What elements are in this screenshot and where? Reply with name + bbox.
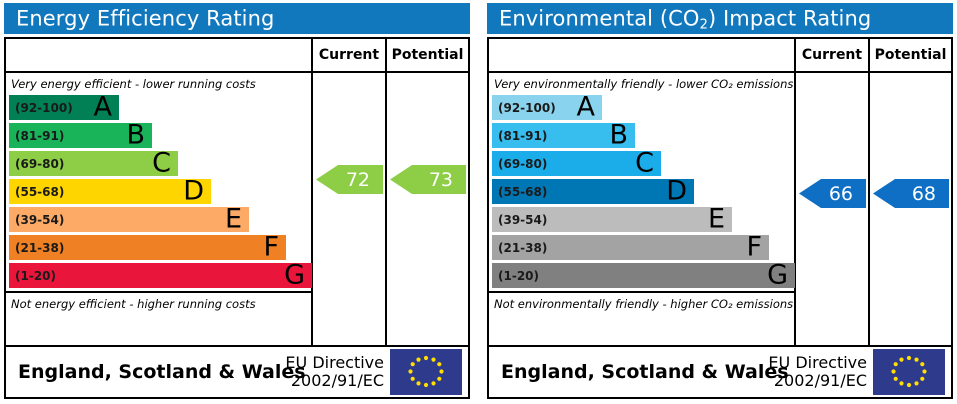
column-header-current: Current bbox=[796, 39, 868, 71]
rating-table: Current Potential Very energy efficient … bbox=[4, 37, 470, 347]
band-b-letter: B bbox=[609, 121, 628, 148]
footer-directive-line1: EU Directive bbox=[285, 354, 384, 372]
band-f-letter: F bbox=[263, 233, 279, 260]
band-c: (69-80) C bbox=[9, 151, 178, 176]
chart-title-main: Environmental (CO bbox=[499, 6, 700, 30]
band-d: (55-68) D bbox=[9, 179, 211, 204]
potential-rating-arrow: 68 bbox=[873, 179, 949, 208]
band-g: (1-20) G bbox=[492, 263, 795, 288]
caption-top: Very energy efficient - lower running co… bbox=[6, 73, 309, 95]
chart-title-suffix: ) Impact Rating bbox=[708, 6, 871, 30]
environmental-impact-rating-chart: Environmental (CO2) Impact Rating Curren… bbox=[483, 0, 957, 404]
band-a-range: (92-100) bbox=[498, 101, 556, 115]
band-f: (21-38) F bbox=[492, 235, 769, 260]
band-c-range: (69-80) bbox=[15, 157, 64, 171]
band-c: (69-80) C bbox=[492, 151, 661, 176]
band-c-range: (69-80) bbox=[498, 157, 547, 171]
column-header-current: Current bbox=[313, 39, 385, 71]
caption-bottom: Not energy efficient - higher running co… bbox=[6, 293, 309, 315]
band-b-range: (81-91) bbox=[498, 129, 547, 143]
band-b-range: (81-91) bbox=[15, 129, 64, 143]
eu-flag-icon bbox=[873, 349, 945, 395]
footer-directive: EU Directive 2002/91/EC bbox=[768, 354, 867, 390]
band-e: (39-54) E bbox=[9, 207, 249, 232]
chart-footer: England, Scotland & Wales EU Directive 2… bbox=[487, 347, 953, 399]
column-divider-potential bbox=[385, 39, 387, 345]
band-d-letter: D bbox=[666, 177, 687, 204]
table-header-row: Current Potential bbox=[6, 39, 468, 73]
energy-efficiency-rating-chart: Energy Efficiency Rating Current Potenti… bbox=[0, 0, 474, 404]
column-divider-potential bbox=[868, 39, 870, 345]
caption-bottom: Not environmentally friendly - higher CO… bbox=[489, 293, 792, 315]
band-d-range: (55-68) bbox=[498, 185, 547, 199]
band-e-letter: E bbox=[225, 205, 242, 232]
chart-title: Environmental (CO2) Impact Rating bbox=[499, 6, 871, 30]
column-divider-current bbox=[794, 39, 796, 345]
chart-title-subscript: 2 bbox=[700, 17, 708, 32]
footer-directive-line2: 2002/91/EC bbox=[768, 372, 867, 390]
band-a-letter: A bbox=[577, 93, 595, 120]
table-header-row: Current Potential bbox=[489, 39, 951, 73]
current-rating-arrow: 72 bbox=[316, 165, 383, 194]
band-d: (55-68) D bbox=[492, 179, 694, 204]
band-b: (81-91) B bbox=[492, 123, 635, 148]
band-b: (81-91) B bbox=[9, 123, 152, 148]
column-header-potential: Potential bbox=[387, 39, 468, 71]
rating-bands: (92-100) A (81-91) B (69-80) C (55-68) D… bbox=[9, 95, 309, 291]
current-rating-arrow: 66 bbox=[799, 179, 866, 208]
band-d-range: (55-68) bbox=[15, 185, 64, 199]
chart-footer: England, Scotland & Wales EU Directive 2… bbox=[4, 347, 470, 399]
band-f: (21-38) F bbox=[9, 235, 286, 260]
band-d-letter: D bbox=[183, 177, 204, 204]
rating-table: Current Potential Very environmentally f… bbox=[487, 37, 953, 347]
band-e-range: (39-54) bbox=[15, 213, 64, 227]
band-c-letter: C bbox=[635, 149, 654, 176]
footer-directive: EU Directive 2002/91/EC bbox=[285, 354, 384, 390]
band-f-letter: F bbox=[746, 233, 762, 260]
column-header-potential: Potential bbox=[870, 39, 951, 71]
chart-title-bar: Environmental (CO2) Impact Rating bbox=[487, 3, 953, 34]
band-a: (92-100) A bbox=[492, 95, 602, 120]
band-b-letter: B bbox=[126, 121, 145, 148]
band-e-letter: E bbox=[708, 205, 725, 232]
band-c-letter: C bbox=[152, 149, 171, 176]
band-g: (1-20) G bbox=[9, 263, 312, 288]
chart-title: Energy Efficiency Rating bbox=[16, 6, 274, 30]
band-e: (39-54) E bbox=[492, 207, 732, 232]
band-e-range: (39-54) bbox=[498, 213, 547, 227]
band-f-range: (21-38) bbox=[498, 241, 547, 255]
rating-bands: (92-100) A (81-91) B (69-80) C (55-68) D… bbox=[492, 95, 792, 291]
band-g-letter: G bbox=[284, 261, 305, 288]
band-f-range: (21-38) bbox=[15, 241, 64, 255]
footer-directive-line2: 2002/91/EC bbox=[285, 372, 384, 390]
band-a: (92-100) A bbox=[9, 95, 119, 120]
footer-region: England, Scotland & Wales bbox=[501, 361, 789, 383]
eu-flag-icon bbox=[390, 349, 462, 395]
epc-chart-page: Energy Efficiency Rating Current Potenti… bbox=[0, 0, 957, 404]
band-g-letter: G bbox=[767, 261, 788, 288]
chart-title-bar: Energy Efficiency Rating bbox=[4, 3, 470, 34]
potential-rating-arrow: 73 bbox=[390, 165, 466, 194]
footer-region: England, Scotland & Wales bbox=[18, 361, 306, 383]
footer-directive-line1: EU Directive bbox=[768, 354, 867, 372]
band-a-letter: A bbox=[94, 93, 112, 120]
caption-top: Very environmentally friendly - lower CO… bbox=[489, 73, 792, 95]
band-a-range: (92-100) bbox=[15, 101, 73, 115]
column-divider-current bbox=[311, 39, 313, 345]
band-g-range: (1-20) bbox=[15, 269, 56, 283]
band-g-range: (1-20) bbox=[498, 269, 539, 283]
